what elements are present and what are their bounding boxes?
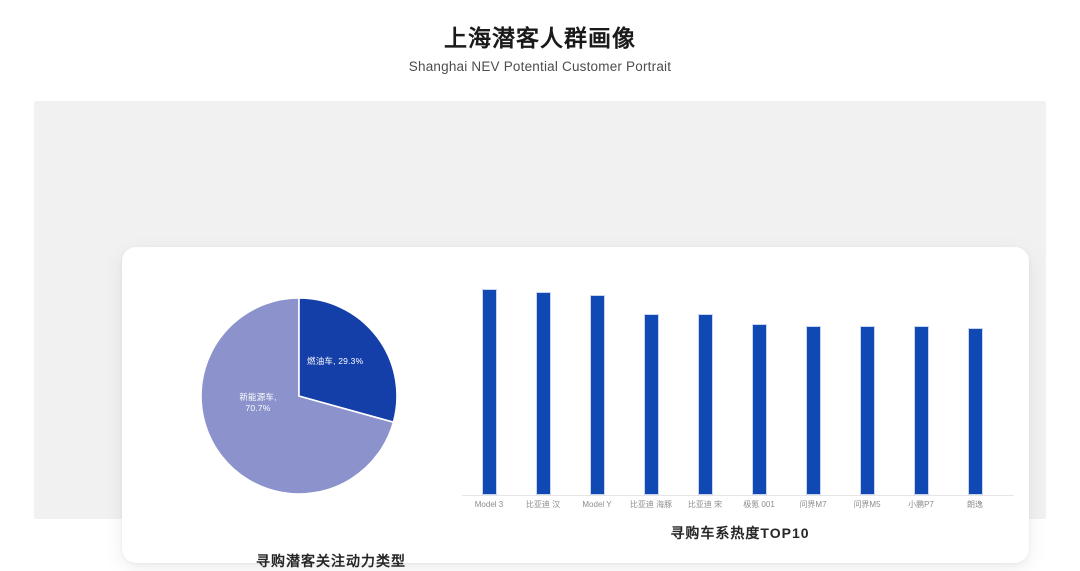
pie-chart-title: 寻购潜客关注动力类型 <box>221 551 441 571</box>
bar-rect[interactable] <box>536 292 551 495</box>
bar-tick-label: 比亚迪 宋 <box>678 499 732 511</box>
pie-label-fuel: 燃油车, 29.3% <box>307 356 363 367</box>
bar-tick-label: 小鹏P7 <box>894 499 948 511</box>
bar-rect[interactable] <box>644 314 659 495</box>
bar-column[interactable] <box>624 314 678 495</box>
bar-chart: Model 3比亚迪 汉Model Y比亚迪 海豚比亚迪 宋极氪 001问界M7… <box>462 269 1014 559</box>
bar-column[interactable] <box>732 324 786 495</box>
bar-rect[interactable] <box>968 328 983 495</box>
bar-tick-label: 比亚迪 汉 <box>516 499 570 511</box>
page-subtitle: Shanghai NEV Potential Customer Portrait <box>0 58 1080 75</box>
bar-rect[interactable] <box>914 326 929 495</box>
page-header: 上海潜客人群画像 Shanghai NEV Potential Customer… <box>0 24 1080 75</box>
bar-tick-label: 问界M7 <box>786 499 840 511</box>
bar-column[interactable] <box>678 314 732 495</box>
bar-rect[interactable] <box>752 324 767 495</box>
bar-axis-tick-labels: Model 3比亚迪 汉Model Y比亚迪 海豚比亚迪 宋极氪 001问界M7… <box>462 499 1014 515</box>
bar-rect[interactable] <box>698 314 713 495</box>
pie-chart: 燃油车, 29.3% 新能源车, 70.7% 寻购潜客关注动力类型 <box>199 296 459 536</box>
bar-column[interactable] <box>516 292 570 495</box>
screenshot-root: 上海潜客人群画像 Shanghai NEV Potential Customer… <box>0 0 1080 547</box>
bar-rect[interactable] <box>860 326 875 495</box>
pie-label-nev-line2: 70.7% <box>215 403 301 414</box>
bar-rect[interactable] <box>806 326 821 495</box>
bar-column[interactable] <box>948 328 1002 495</box>
bar-tick-label: Model 3 <box>462 499 516 511</box>
bar-tick-label: 比亚迪 海豚 <box>624 499 678 511</box>
bar-column[interactable] <box>570 295 624 495</box>
pie-label-nev: 新能源车, 70.7% <box>215 392 301 414</box>
bar-column[interactable] <box>462 289 516 495</box>
bar-rect[interactable] <box>482 289 497 495</box>
pie-label-nev-line1: 新能源车, <box>215 392 301 403</box>
bar-axis-line <box>462 495 1014 496</box>
bar-tick-label: 朗逸 <box>948 499 1002 511</box>
bar-rect[interactable] <box>590 295 605 495</box>
bar-column[interactable] <box>786 326 840 495</box>
bar-tick-label: 问界M5 <box>840 499 894 511</box>
bar-column[interactable] <box>840 326 894 495</box>
bar-tick-label: 极氪 001 <box>732 499 786 511</box>
page-title: 上海潜客人群画像 <box>0 24 1080 52</box>
bar-tick-label: Model Y <box>570 499 624 511</box>
bar-chart-title: 寻购车系热度TOP10 <box>520 523 960 543</box>
content-panel: 燃油车, 29.3% 新能源车, 70.7% 寻购潜客关注动力类型 Model … <box>34 101 1046 519</box>
charts-card: 燃油车, 29.3% 新能源车, 70.7% 寻购潜客关注动力类型 Model … <box>122 247 1029 563</box>
bar-column[interactable] <box>894 326 948 495</box>
bar-plot-area <box>462 269 1014 495</box>
